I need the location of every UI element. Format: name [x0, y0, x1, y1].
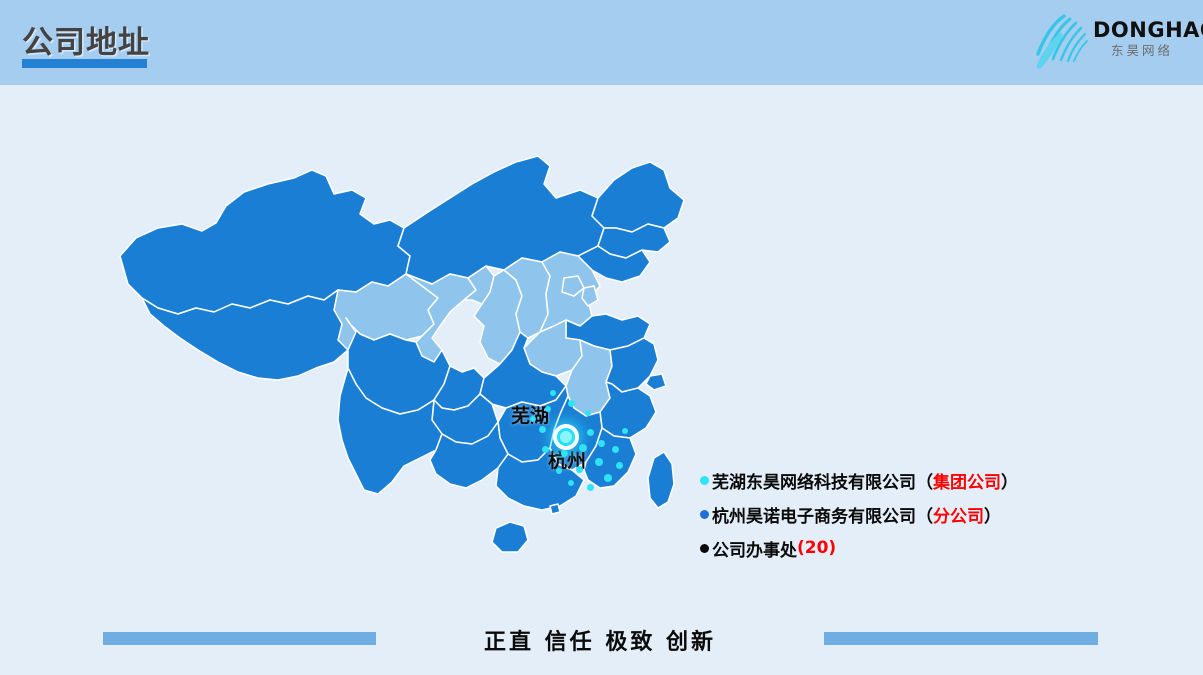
legend-label: 芜湖东昊网络科技有限公司 — [712, 468, 916, 493]
office-dot — [585, 410, 591, 416]
legend-paren-close: ） — [984, 502, 1001, 527]
legend-item-offices[interactable]: 公司办事处 (20) — [700, 531, 1030, 565]
office-dot — [598, 440, 605, 447]
city-label-wuhu: 芜湖 — [511, 401, 549, 428]
office-dot — [587, 429, 594, 436]
office-dot — [556, 468, 562, 474]
office-dot — [530, 416, 536, 422]
legend-highlight: 集团公司 — [933, 468, 1001, 493]
office-dot — [561, 450, 568, 457]
office-dot — [568, 400, 575, 407]
company-logo: DONGHAO 东昊网络 — [1031, 8, 1191, 74]
legend-paren-open: （ — [916, 502, 933, 527]
office-dot — [616, 462, 623, 469]
legend-label: 杭州昊诺电子商务有限公司 — [712, 502, 916, 527]
office-dot — [612, 446, 619, 453]
office-dot — [545, 406, 551, 412]
legend-bullet-icon — [700, 476, 709, 485]
legend-item-group-company[interactable]: 芜湖东昊网络科技有限公司 （ 集团公司 ） — [700, 463, 1030, 497]
office-dot — [576, 466, 583, 473]
slide-header: 公司地址 DONGHAO 东昊网络 — [0, 0, 1203, 85]
office-dot — [587, 484, 594, 491]
office-dot — [550, 390, 556, 396]
legend-paren-open: （ — [916, 468, 933, 493]
headquarters-marker-core — [560, 431, 572, 443]
legend-item-branch-company[interactable]: 杭州昊诺电子商务有限公司 （ 分公司 ） — [700, 497, 1030, 531]
office-dot — [595, 458, 603, 466]
office-dot — [622, 428, 628, 434]
legend-label: 公司办事处 — [712, 536, 797, 561]
slide-canvas: 公司地址 DONGHAO 东昊网络 — [0, 0, 1203, 675]
legend-paren-close: ） — [1001, 468, 1018, 493]
title-underline-bar — [22, 59, 147, 68]
footer-motto: 正直 信任 极致 创新 — [455, 624, 745, 656]
office-dot — [604, 474, 612, 482]
legend-highlight: (20) — [797, 538, 836, 558]
logo-subtitle: 东昊网络 — [1093, 42, 1191, 60]
office-dot — [568, 480, 574, 486]
page-title: 公司地址 — [22, 17, 150, 62]
legend-bullet-icon — [700, 544, 709, 553]
office-dot — [539, 426, 546, 433]
office-dot — [579, 444, 587, 452]
legend-highlight: 分公司 — [933, 502, 984, 527]
office-dot — [542, 446, 549, 453]
legend-bullet-icon — [700, 510, 709, 519]
china-map-container: 芜湖 杭州 — [98, 128, 738, 618]
footer-bar-right — [824, 632, 1098, 645]
logo-text-block: DONGHAO 东昊网络 — [1093, 18, 1191, 60]
footer-bar-left — [103, 632, 376, 645]
legend: 芜湖东昊网络科技有限公司 （ 集团公司 ） 杭州昊诺电子商务有限公司 （ 分公司… — [700, 463, 1030, 565]
feather-wing-icon — [1031, 10, 1093, 72]
china-map — [98, 128, 738, 618]
logo-name: DONGHAO — [1093, 18, 1191, 42]
